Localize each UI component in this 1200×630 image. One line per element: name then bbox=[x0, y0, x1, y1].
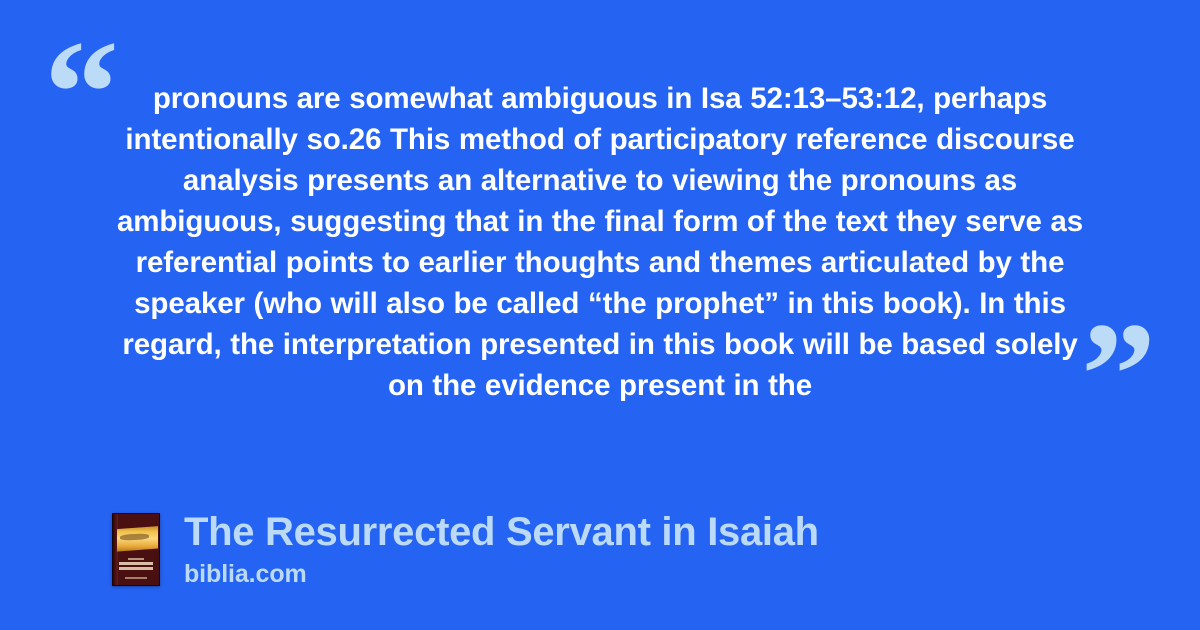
footer: The Resurrected Servant in Isaiah biblia… bbox=[112, 509, 819, 590]
quote-card: “ pronouns are somewhat ambiguous in Isa… bbox=[0, 0, 1200, 630]
footer-text: The Resurrected Servant in Isaiah biblia… bbox=[184, 509, 819, 590]
book-cover-title-line-0 bbox=[128, 558, 144, 560]
book-cover-title-line-1 bbox=[119, 562, 154, 565]
book-cover-title-line-2 bbox=[119, 567, 154, 570]
close-quote-icon: ” bbox=[1081, 300, 1156, 450]
site-name[interactable]: biblia.com bbox=[184, 558, 819, 590]
book-title: The Resurrected Servant in Isaiah bbox=[184, 509, 819, 555]
quote-area: pronouns are somewhat ambiguous in Isa 5… bbox=[110, 78, 1090, 408]
quote-text: pronouns are somewhat ambiguous in Isa 5… bbox=[110, 78, 1090, 406]
book-cover-title-lines bbox=[119, 558, 154, 570]
book-cover-thumbnail[interactable] bbox=[112, 513, 160, 586]
open-quote-icon: “ bbox=[44, 18, 119, 168]
book-cover-author-line bbox=[125, 577, 147, 579]
